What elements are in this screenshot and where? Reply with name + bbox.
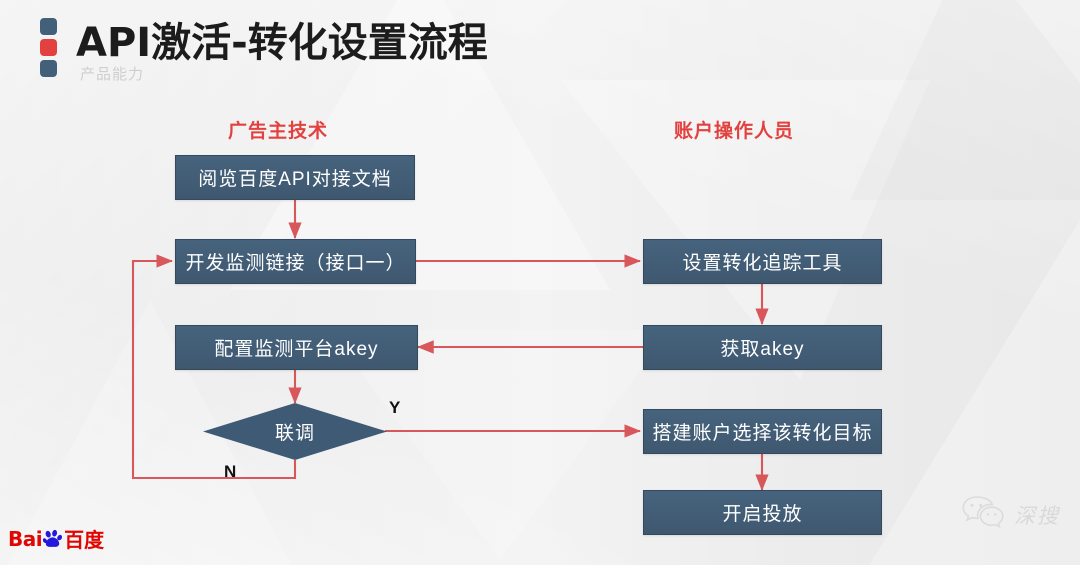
slide-canvas: API激活-转化设置流程 产品能力 广告主技术 账户操作人员 (0, 0, 1080, 565)
flow-node-label: 开发监测链接（接口一） (185, 248, 405, 275)
flow-node-label: 设置转化追踪工具 (682, 248, 842, 275)
page-subtitle: 产品能力 (80, 63, 144, 84)
baidu-logo: Bai 百度 (8, 524, 104, 553)
flow-node-label: 阅览百度API对接文档 (198, 164, 392, 191)
flow-connectors (0, 0, 1080, 565)
flow-node-label: 联调 (275, 418, 315, 445)
decoration-square-middle (40, 39, 57, 56)
flow-node-read-doc[interactable]: 阅览百度API对接文档 (175, 155, 415, 200)
baidu-logo-latin: Bai (8, 527, 42, 551)
watermark-label: 深搜 (1014, 500, 1060, 530)
flow-node-joint-debug[interactable]: 联调 (203, 403, 387, 460)
flow-node-config-akey[interactable]: 配置监测平台akey (175, 325, 418, 370)
page-title: API激活-转化设置流程 (76, 10, 488, 68)
flow-node-label: 配置监测平台akey (214, 334, 378, 361)
decoration-square-top (40, 18, 57, 35)
flow-node-label: 搭建账户选择该转化目标 (652, 418, 872, 445)
edge-label-no: N (224, 462, 236, 482)
wechat-watermark: 深搜 (961, 495, 1060, 534)
lane-header-account-operator: 账户操作人员 (674, 116, 794, 143)
paw-icon (43, 529, 63, 549)
flow-node-label: 获取akey (720, 334, 804, 361)
flow-node-build-account[interactable]: 搭建账户选择该转化目标 (643, 409, 882, 454)
flow-node-get-akey[interactable]: 获取akey (643, 325, 882, 370)
baidu-logo-cn: 百度 (64, 524, 104, 553)
title-decoration-marks (40, 18, 57, 77)
background-facet (850, 0, 1080, 200)
lane-header-advertiser-tech: 广告主技术 (228, 116, 328, 143)
decoration-square-bottom (40, 60, 57, 77)
flow-node-dev-link[interactable]: 开发监测链接（接口一） (175, 239, 416, 284)
wechat-icon (961, 495, 1005, 534)
flow-node-label: 开启投放 (722, 499, 802, 526)
flow-node-set-tracking[interactable]: 设置转化追踪工具 (643, 239, 882, 284)
flow-node-start-delivery[interactable]: 开启投放 (643, 490, 882, 535)
edge-label-yes: Y (389, 398, 400, 418)
